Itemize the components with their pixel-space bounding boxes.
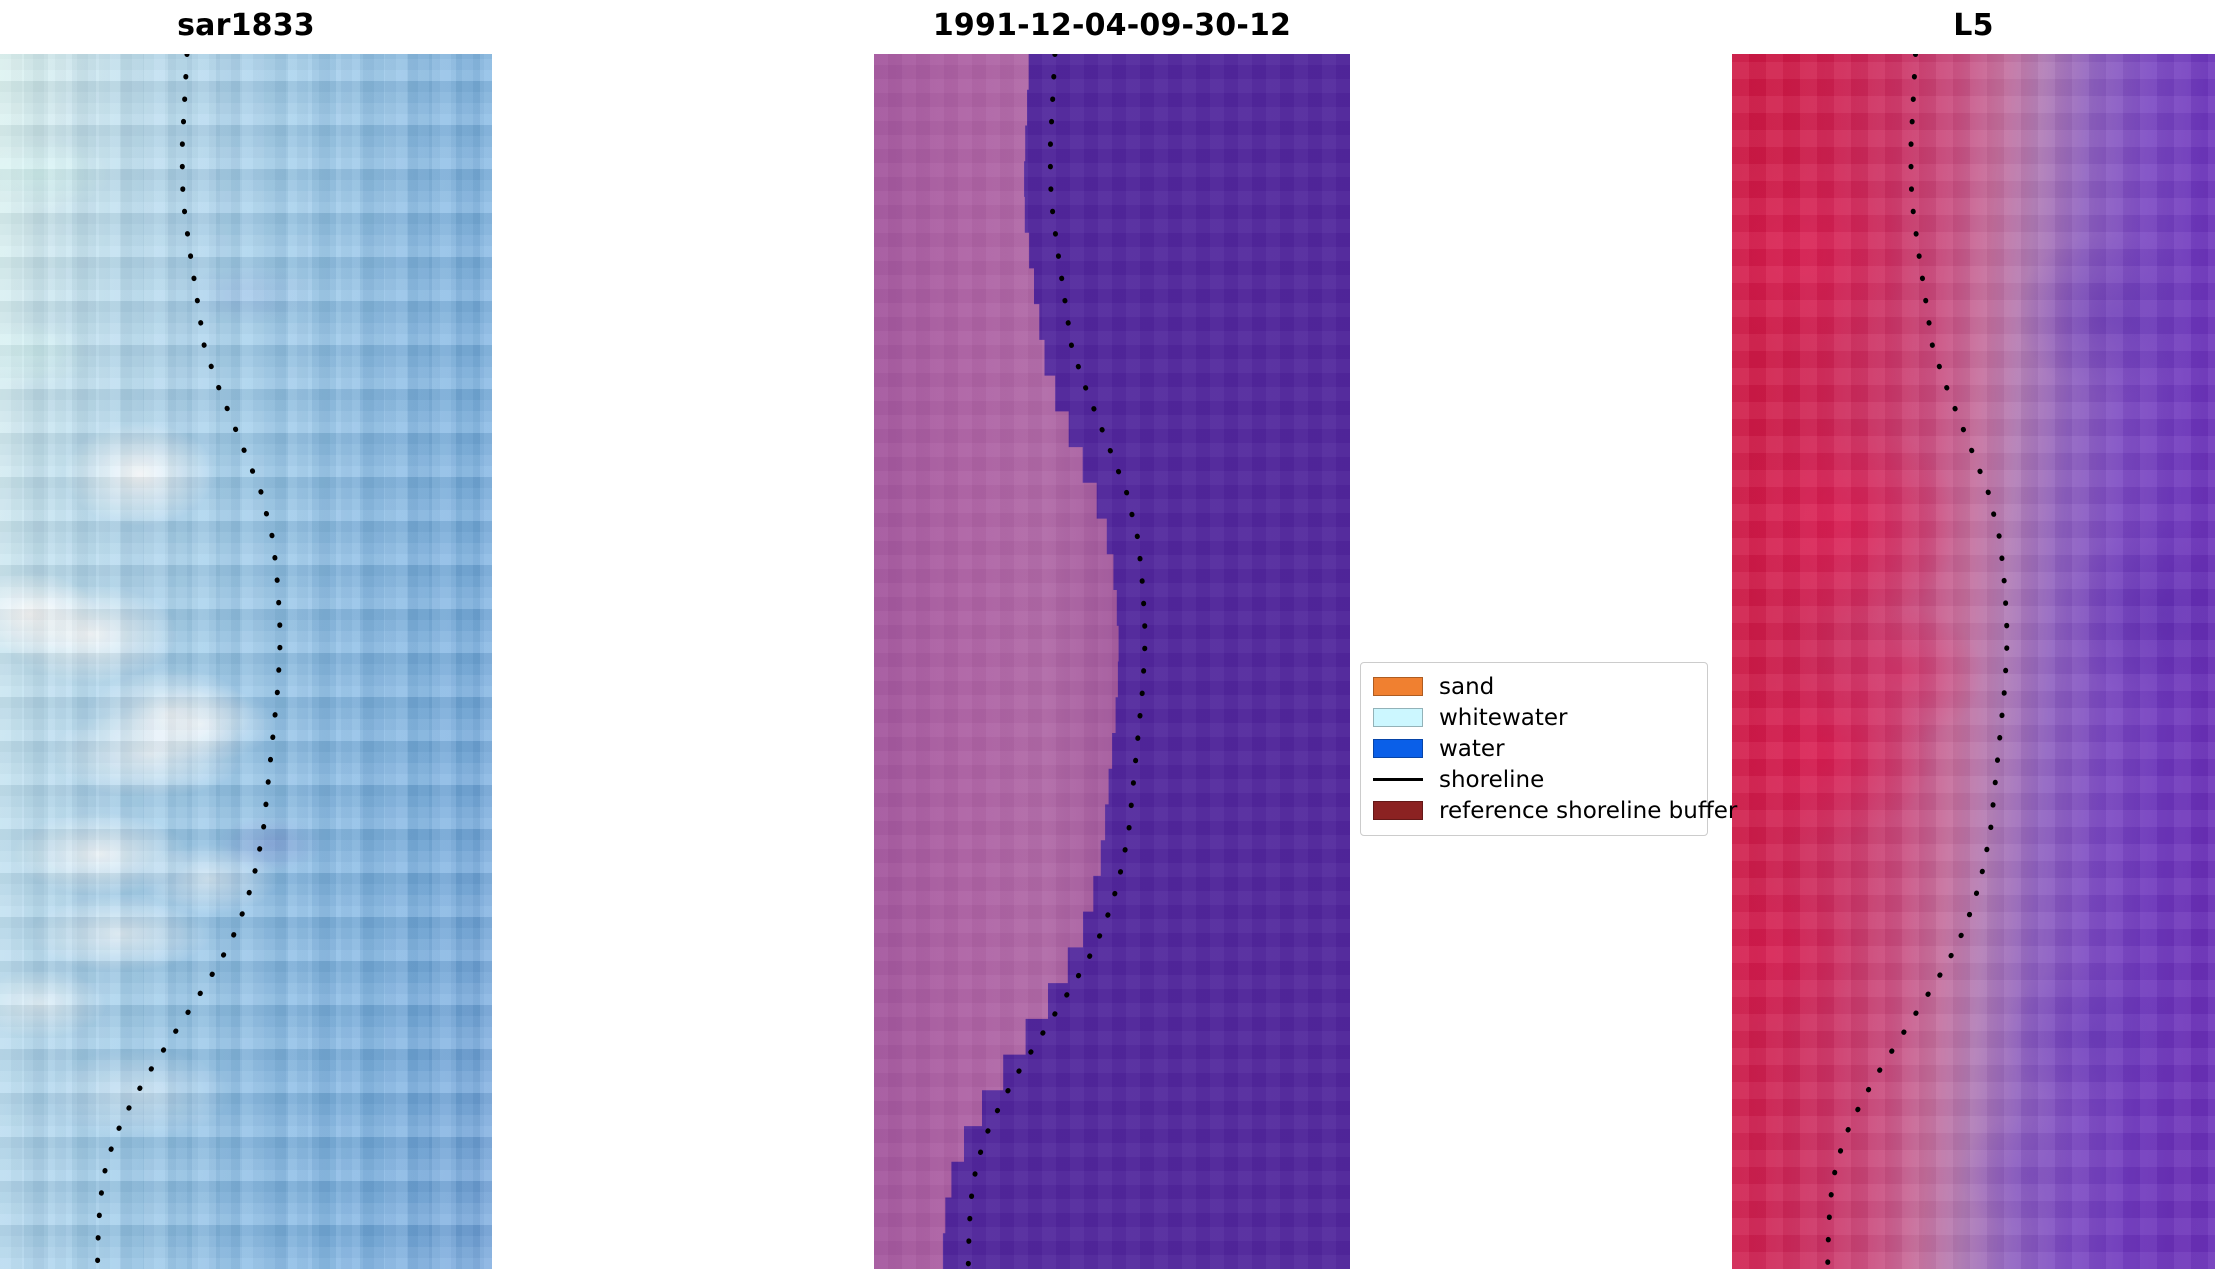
legend-label-water: water [1439,736,1505,762]
legend-item-shoreline[interactable]: shoreline [1373,764,1695,795]
panel-sar[interactable]: sar1833 [0,0,492,1283]
legend: sand whitewater water shoreline referenc… [1360,662,1708,836]
shoreline-line-icon [1373,770,1423,789]
legend-label-reference-shoreline-buffer: reference shoreline buffer [1439,798,1737,824]
whitewater-swatch-icon [1373,708,1423,727]
panel-title-sar: sar1833 [0,6,492,46]
legend-label-sand: sand [1439,674,1494,700]
figure-canvas: sar1833 1991-12-04-09-30-12 [0,0,2215,1283]
reference-buffer-swatch-icon [1373,801,1423,820]
legend-label-shoreline: shoreline [1439,767,1544,793]
panel-l5[interactable]: L5 [1732,0,2215,1283]
legend-item-reference-shoreline-buffer[interactable]: reference shoreline buffer [1373,795,1695,826]
legend-item-whitewater[interactable]: whitewater [1373,702,1695,733]
panel-image-sar[interactable] [0,54,492,1269]
water-swatch-icon [1373,739,1423,758]
legend-item-water[interactable]: water [1373,733,1695,764]
sand-swatch-icon [1373,677,1423,696]
panel-title-classified: 1991-12-04-09-30-12 [874,6,1350,46]
l5-pixel-grid [1732,54,2215,1269]
legend-item-sand[interactable]: sand [1373,671,1695,702]
sar-pixel-grid [0,54,492,1269]
legend-label-whitewater: whitewater [1439,705,1567,731]
panel-image-classified[interactable] [874,54,1350,1269]
classified-pixel-grid [874,54,1350,1269]
panel-image-l5[interactable] [1732,54,2215,1269]
panel-title-l5: L5 [1732,6,2215,46]
panel-classified[interactable]: 1991-12-04-09-30-12 [874,0,1350,1283]
